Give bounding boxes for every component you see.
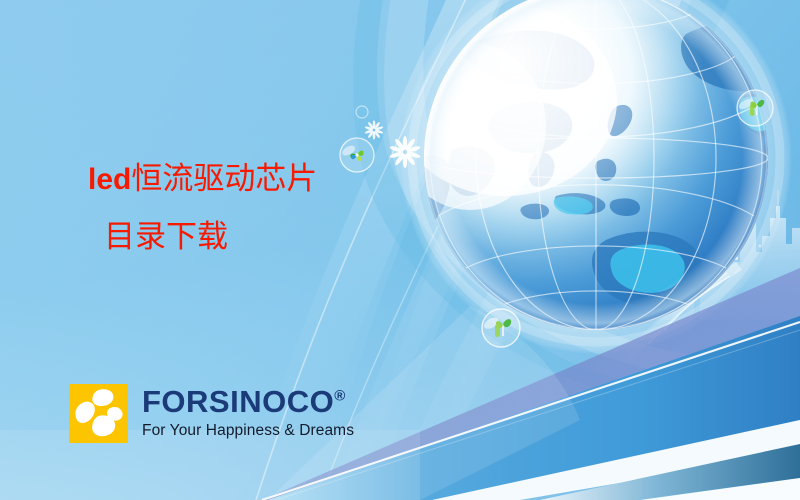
- headline-cjk: 恒流驱动芯片: [131, 161, 317, 196]
- logo-tagline: For Your Happiness & Dreams: [142, 423, 354, 439]
- headline-text: led恒流驱动芯片 目录下载: [88, 163, 508, 252]
- promo-banner: led恒流驱动芯片 目录下载 FORSINOCO® For Your: [0, 0, 800, 500]
- sprout-green-icon: [495, 319, 511, 337]
- logo-name-text: FORSINOCO: [142, 384, 334, 419]
- forsinoco-pinwheel-mark: [69, 384, 128, 443]
- light-rays: [620, 245, 762, 365]
- continent-highlights: [554, 97, 777, 293]
- bubble-icon: [482, 309, 520, 347]
- sprout-green-icon: [750, 100, 764, 116]
- bubble-icon: [356, 106, 368, 118]
- headline-line-1: led恒流驱动芯片: [88, 163, 508, 195]
- asterisk-icon: [364, 120, 383, 139]
- headline-latin: led: [88, 163, 131, 196]
- registered-trademark-icon: ®: [334, 388, 345, 405]
- pinwheel-green-icon: [350, 150, 363, 160]
- pinwheel-petals-icon: [69, 384, 128, 443]
- logo-name: FORSINOCO®: [142, 386, 354, 417]
- logo-wordmark: FORSINOCO® For Your Happiness & Dreams: [142, 384, 354, 439]
- brand-logo: FORSINOCO® For Your Happiness & Dreams: [69, 384, 354, 443]
- city-skyline: [650, 190, 800, 320]
- bubble-icon: [737, 90, 773, 126]
- headline-line-2: 目录下载: [104, 221, 508, 252]
